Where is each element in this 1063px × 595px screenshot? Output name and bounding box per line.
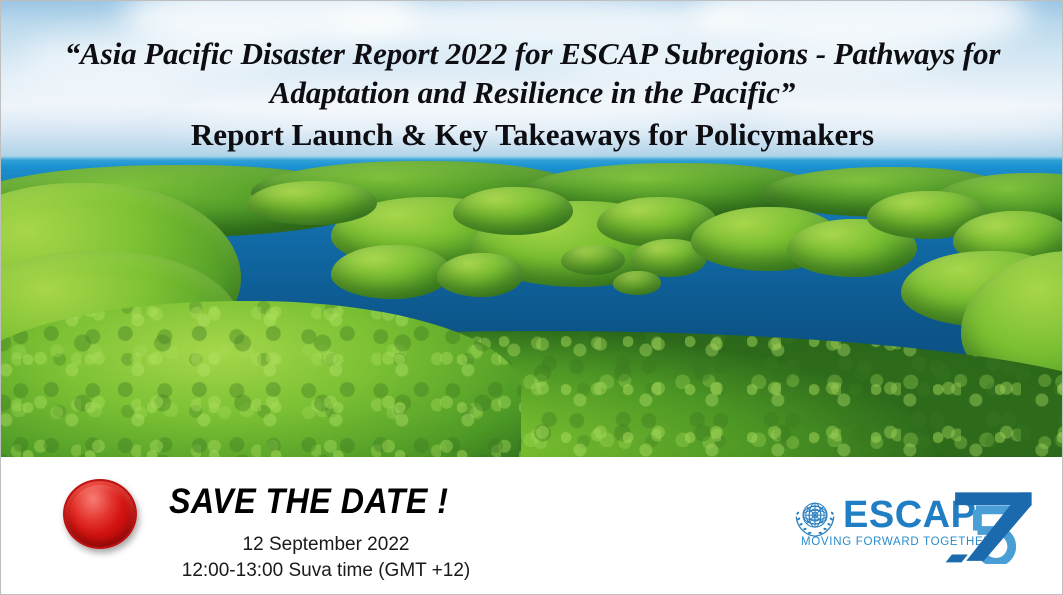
event-date: 12 September 2022 xyxy=(111,532,541,558)
title-line-1: “Asia Pacific Disaster Report 2022 for E… xyxy=(11,35,1054,73)
title-line-3: Report Launch & Key Takeaways for Policy… xyxy=(11,116,1054,154)
un-emblem-icon xyxy=(791,494,839,542)
islet xyxy=(613,271,661,295)
anniversary-75-icon xyxy=(931,478,1035,564)
event-time: 12:00-13:00 Suva time (GMT +12) xyxy=(111,558,541,584)
islet xyxy=(247,181,377,225)
islet xyxy=(561,245,625,275)
save-the-date-poster: “Asia Pacific Disaster Report 2022 for E… xyxy=(0,0,1063,595)
title-line-2: Adaptation and Resilience in the Pacific… xyxy=(11,74,1054,112)
event-details: 12 September 2022 12:00-13:00 Suva time … xyxy=(111,532,541,584)
islet xyxy=(437,253,523,297)
escap-logo: ESCAP MOVING FORWARD TOGETHER xyxy=(791,484,1031,566)
islet xyxy=(453,187,573,235)
hero-photo: “Asia Pacific Disaster Report 2022 for E… xyxy=(1,1,1063,457)
save-the-date-heading: SAVE THE DATE ! xyxy=(169,482,448,522)
islet xyxy=(331,245,451,299)
poster-title: “Asia Pacific Disaster Report 2022 for E… xyxy=(1,35,1063,154)
